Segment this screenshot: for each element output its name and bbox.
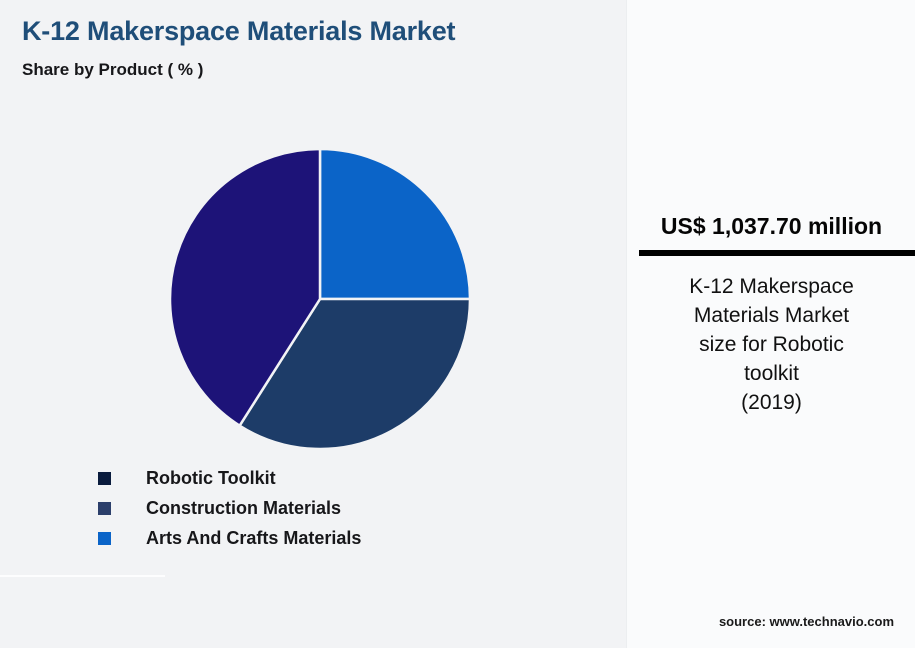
chart-panel: K-12 Makerspace Materials Market Share b… [0, 0, 626, 648]
callout-description-line: (2019) [645, 388, 898, 417]
chart-subtitle: Share by Product ( % ) [22, 60, 203, 80]
legend-swatch-icon [98, 502, 111, 515]
callout-value: US$ 1,037.70 million [627, 213, 915, 240]
chart-legend: Robotic Toolkit Construction Materials A… [98, 463, 568, 553]
pie-slice-arts-and-crafts-materials[interactable] [320, 149, 470, 299]
callout-description-line: size for Robotic [645, 330, 898, 359]
divider [0, 575, 165, 577]
callout-description: K-12 Makerspace Materials Market size fo… [645, 272, 898, 417]
legend-item-construction-materials[interactable]: Construction Materials [98, 493, 568, 523]
pie-chart [170, 149, 470, 449]
legend-item-arts-and-crafts-materials[interactable]: Arts And Crafts Materials [98, 523, 568, 553]
legend-item-label: Robotic Toolkit [146, 468, 276, 489]
legend-swatch-icon [98, 532, 111, 545]
infographic-root: K-12 Makerspace Materials Market Share b… [0, 0, 915, 648]
pie-chart-svg [170, 149, 470, 449]
legend-item-label: Arts And Crafts Materials [146, 528, 361, 549]
legend-item-label: Construction Materials [146, 498, 341, 519]
source-note: source: www.technavio.com [627, 614, 915, 629]
callout-description-line: K-12 Makerspace [645, 272, 898, 301]
callout-underline [639, 250, 915, 256]
callout-panel: US$ 1,037.70 million K-12 Makerspace Mat… [626, 0, 915, 648]
page-title: K-12 Makerspace Materials Market [22, 16, 455, 47]
callout-description-line: Materials Market [645, 301, 898, 330]
legend-swatch-icon [98, 472, 111, 485]
legend-item-robotic-toolkit[interactable]: Robotic Toolkit [98, 463, 568, 493]
callout-description-line: toolkit [645, 359, 898, 388]
